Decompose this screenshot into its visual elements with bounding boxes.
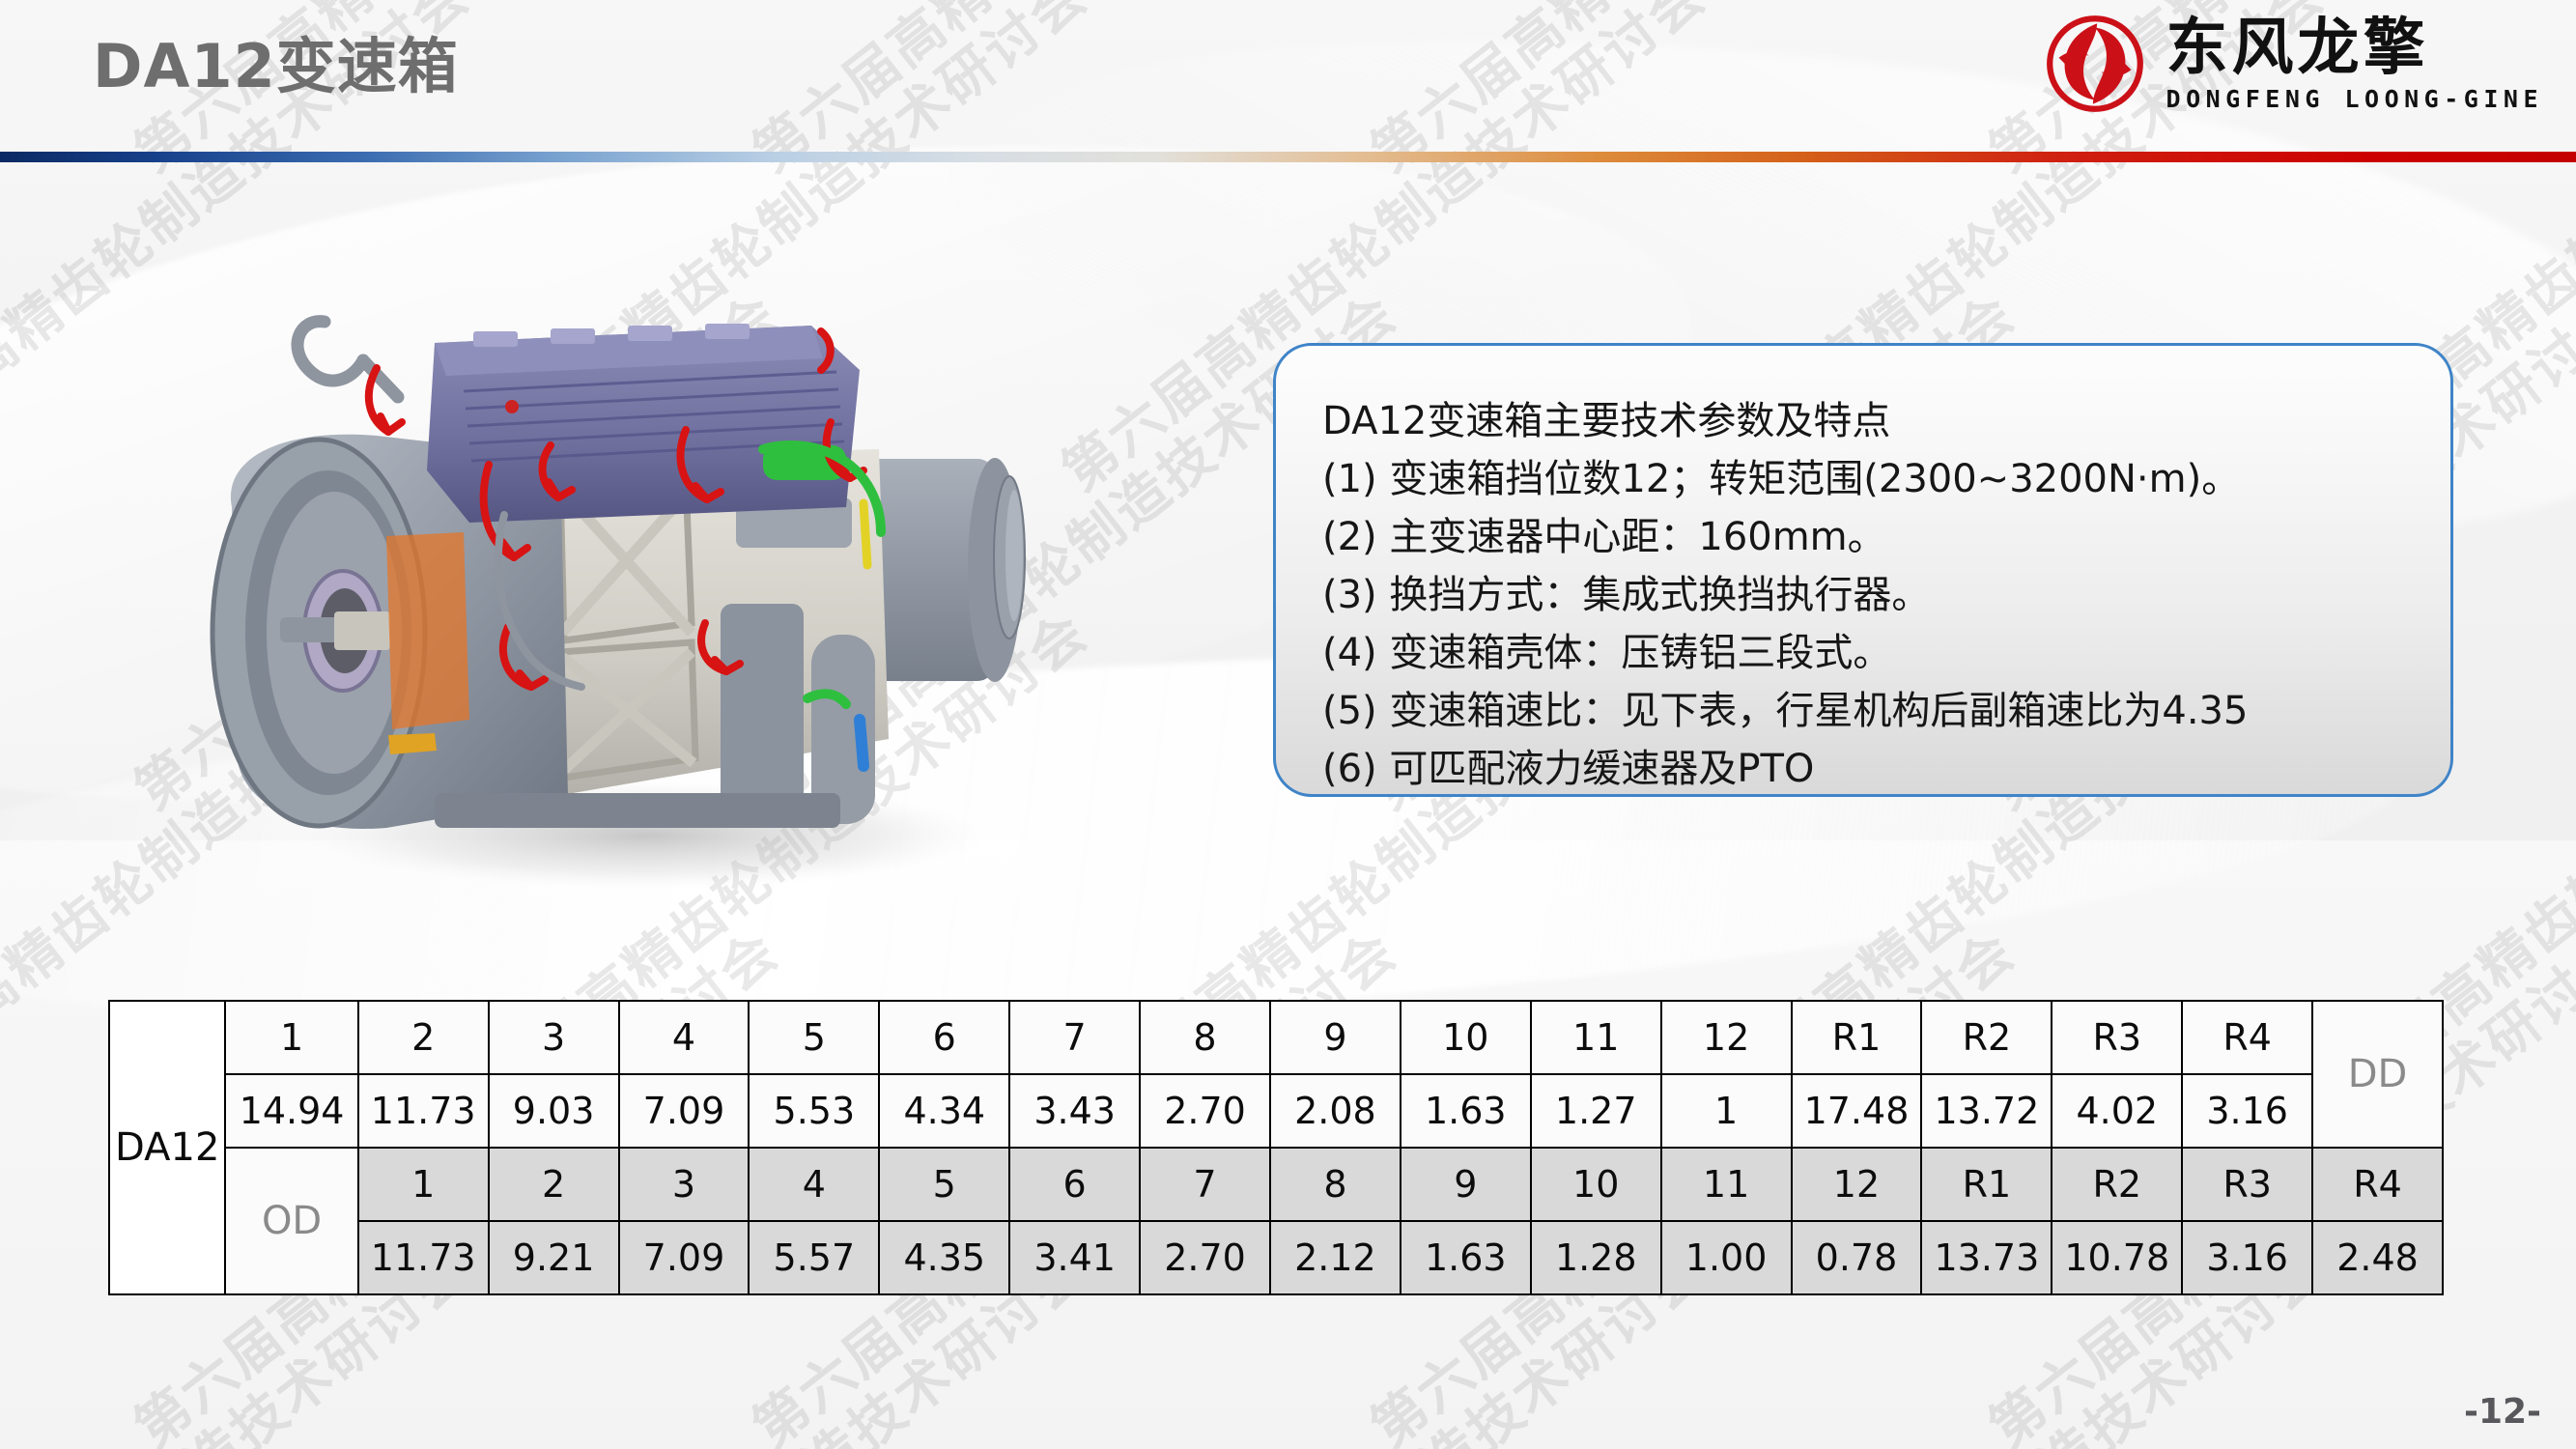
dd-ratio-r2: 13.72 <box>1921 1074 2052 1148</box>
dd-gear-r1: R1 <box>1792 1001 1922 1074</box>
od-gear-4: 4 <box>749 1148 879 1221</box>
od-ratio-6: 3.41 <box>1009 1221 1140 1294</box>
dd-ratio-8: 2.70 <box>1140 1074 1270 1148</box>
table-row-od-ratios: 11.73 9.21 7.09 5.57 4.35 3.41 2.70 2.12… <box>109 1221 2443 1294</box>
dd-ratio-1: 14.94 <box>225 1074 357 1148</box>
mode-od-cell: OD <box>225 1148 357 1294</box>
dd-gear-2: 2 <box>358 1001 489 1074</box>
od-gear-11: 11 <box>1661 1148 1792 1221</box>
dd-ratio-12: 1 <box>1661 1074 1792 1148</box>
od-gear-12: 12 <box>1792 1148 1922 1221</box>
dd-gear-r2: R2 <box>1921 1001 2052 1074</box>
page-title: DA12变速箱 <box>93 17 459 104</box>
od-gear-1: 1 <box>358 1148 489 1221</box>
page-number: -12- <box>2464 1392 2541 1432</box>
od-gear-r3: R3 <box>2182 1148 2312 1221</box>
od-gear-r1: R1 <box>1921 1148 2052 1221</box>
brand-logo: 东风龙擎 DONGFENG LOONG-GINE <box>2045 14 2543 114</box>
dd-ratio-3: 9.03 <box>489 1074 619 1148</box>
header-divider-rule <box>0 152 2576 162</box>
spec-heading: DA12变速箱主要技术参数及特点 <box>1322 392 2450 450</box>
dd-ratio-11: 1.27 <box>1531 1074 1661 1148</box>
brand-name-cn: 东风龙擎 <box>2166 17 2429 79</box>
table-row-od-gears: OD 1 2 3 4 5 6 7 8 9 10 11 12 R1 R2 R3 R <box>109 1148 2443 1221</box>
dd-gear-3: 3 <box>489 1001 619 1074</box>
od-gear-8: 8 <box>1270 1148 1401 1221</box>
od-gear-2: 2 <box>489 1148 619 1221</box>
transmission-control-unit <box>427 324 860 523</box>
brand-name-en: DONGFENG LOONG-GINE <box>2166 87 2543 111</box>
dd-gear-r3: R3 <box>2052 1001 2182 1074</box>
od-ratio-r1: 13.73 <box>1921 1221 2052 1294</box>
dd-ratio-6: 4.34 <box>879 1074 1009 1148</box>
od-ratio-3: 7.09 <box>619 1221 750 1294</box>
od-gear-r4: R4 <box>2312 1148 2443 1221</box>
od-ratio-10: 1.28 <box>1531 1221 1661 1294</box>
dd-gear-12: 12 <box>1661 1001 1792 1074</box>
dd-ratio-5: 5.53 <box>749 1074 879 1148</box>
dd-ratio-7: 3.43 <box>1009 1074 1140 1148</box>
spec-line-1: (1) 变速箱挡位数12；转矩范围(2300~3200N·m)。 <box>1322 450 2450 508</box>
dd-gear-9: 9 <box>1270 1001 1401 1074</box>
od-ratio-11: 1.00 <box>1661 1221 1792 1294</box>
od-ratio-r3: 3.16 <box>2182 1221 2312 1294</box>
dd-gear-5: 5 <box>749 1001 879 1074</box>
dd-ratio-9: 2.08 <box>1270 1074 1401 1148</box>
dd-gear-8: 8 <box>1140 1001 1270 1074</box>
dd-gear-r4: R4 <box>2182 1001 2312 1074</box>
od-gear-r2: R2 <box>2052 1148 2182 1221</box>
od-ratio-2: 9.21 <box>489 1221 619 1294</box>
od-gear-7: 7 <box>1140 1148 1270 1221</box>
od-gear-10: 10 <box>1531 1148 1661 1221</box>
od-gear-9: 9 <box>1401 1148 1531 1221</box>
dd-ratio-2: 11.73 <box>358 1074 489 1148</box>
mode-dd-cell: DD <box>2312 1001 2443 1148</box>
dd-ratio-r4: 3.16 <box>2182 1074 2312 1148</box>
gear-ratio-table: DA12 1 2 3 4 5 6 7 8 9 10 11 12 R1 R2 R3 <box>108 1000 2444 1295</box>
spec-line-5: (5) 变速箱速比：见下表，行星机构后副箱速比为4.35 <box>1322 682 2450 740</box>
od-ratio-12: 0.78 <box>1792 1221 1922 1294</box>
od-ratio-9: 1.63 <box>1401 1221 1531 1294</box>
od-ratio-1: 11.73 <box>358 1221 489 1294</box>
slide-canvas: DA12变速箱 东风龙擎 DONGFENG LOONG-GINE <box>0 0 2576 1449</box>
dd-ratio-r3: 4.02 <box>2052 1074 2182 1148</box>
spec-callout-box: DA12变速箱主要技术参数及特点 (1) 变速箱挡位数12；转矩范围(2300~… <box>1273 343 2453 797</box>
da12-gearbox-illustration <box>145 217 1130 913</box>
od-ratio-r2: 10.78 <box>2052 1221 2182 1294</box>
dd-gear-6: 6 <box>879 1001 1009 1074</box>
dd-gear-4: 4 <box>619 1001 750 1074</box>
od-gear-5: 5 <box>879 1148 1009 1221</box>
spec-line-4: (4) 变速箱壳体：压铸铝三段式。 <box>1322 624 2450 682</box>
dd-gear-1: 1 <box>225 1001 357 1074</box>
od-ratio-7: 2.70 <box>1140 1221 1270 1294</box>
od-ratio-5: 4.35 <box>879 1221 1009 1294</box>
spec-line-3: (3) 换挡方式：集成式换挡执行器。 <box>1322 566 2450 624</box>
od-ratio-8: 2.12 <box>1270 1221 1401 1294</box>
od-ratio-r4: 2.48 <box>2312 1221 2443 1294</box>
dd-ratio-r1: 17.48 <box>1792 1074 1922 1148</box>
table-row-dd-ratios: 14.94 11.73 9.03 7.09 5.53 4.34 3.43 2.7… <box>109 1074 2443 1148</box>
model-label-cell: DA12 <box>109 1001 225 1294</box>
dd-gear-10: 10 <box>1401 1001 1531 1074</box>
brand-wordmark: 东风龙擎 DONGFENG LOONG-GINE <box>2166 17 2543 111</box>
spec-line-2: (2) 主变速器中心距：160mm。 <box>1322 508 2450 566</box>
dd-gear-7: 7 <box>1009 1001 1140 1074</box>
od-ratio-4: 5.57 <box>749 1221 879 1294</box>
dd-gear-11: 11 <box>1531 1001 1661 1074</box>
od-gear-6: 6 <box>1009 1148 1140 1221</box>
table-row-dd-gears: DA12 1 2 3 4 5 6 7 8 9 10 11 12 R1 R2 R3 <box>109 1001 2443 1074</box>
dongfeng-swirl-emblem-icon <box>2045 14 2145 114</box>
gearbox-base-rail <box>435 793 840 828</box>
dd-ratio-4: 7.09 <box>619 1074 750 1148</box>
spec-line-6: (6) 可匹配液力缓速器及PTO <box>1322 740 2450 798</box>
od-gear-3: 3 <box>619 1148 750 1221</box>
dd-ratio-10: 1.63 <box>1401 1074 1531 1148</box>
